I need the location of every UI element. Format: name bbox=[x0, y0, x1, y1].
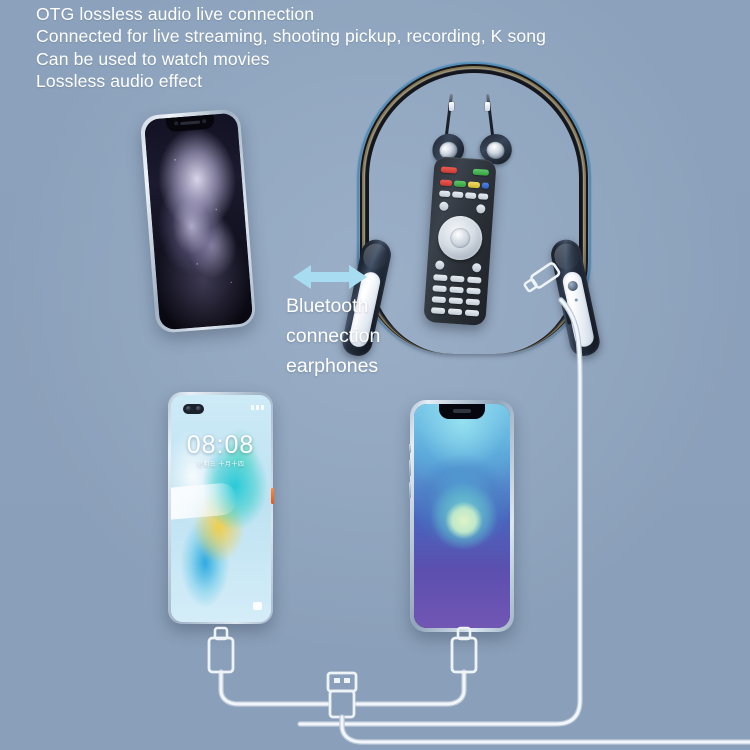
tv-remote-control bbox=[423, 156, 496, 326]
iphone-11-screen bbox=[143, 112, 252, 330]
remote-key-r5c2[interactable] bbox=[449, 286, 463, 293]
front-camera-icon bbox=[174, 121, 178, 125]
iphone-12-volume-down-button[interactable] bbox=[409, 482, 412, 498]
remote-color-key-yellow[interactable] bbox=[468, 181, 480, 188]
remote-key-r4c3[interactable] bbox=[467, 277, 481, 284]
huawei-lockscreen-date: 星期三 十月十四 bbox=[171, 459, 271, 468]
bluetooth-double-arrow-icon bbox=[293, 262, 367, 292]
remote-key-r2c3[interactable] bbox=[465, 192, 476, 199]
phone-iphone-12 bbox=[410, 400, 514, 632]
wifi-icon bbox=[256, 405, 259, 410]
remote-key-r4c1[interactable] bbox=[433, 274, 447, 281]
huawei-status-bar bbox=[251, 405, 264, 410]
remote-color-key-green[interactable] bbox=[454, 180, 466, 187]
remote-power-key[interactable] bbox=[441, 167, 457, 174]
remote-key-r2c1[interactable] bbox=[439, 190, 450, 197]
remote-key-r6c3[interactable] bbox=[466, 299, 480, 306]
phone-huawei-mate: 08:08 星期三 十月十四 bbox=[168, 392, 273, 624]
iphone-11-wallpaper bbox=[143, 112, 252, 330]
remote-key-r7c2[interactable] bbox=[448, 308, 462, 315]
remote-back-key[interactable] bbox=[435, 260, 445, 270]
remote-key-r4c2[interactable] bbox=[450, 275, 464, 282]
remote-dpad[interactable] bbox=[437, 215, 484, 262]
remote-key-r5c3[interactable] bbox=[466, 288, 480, 295]
earpiece-speaker-icon bbox=[180, 120, 200, 125]
remote-menu-key[interactable] bbox=[439, 201, 449, 211]
remote-key-r2c4[interactable] bbox=[478, 193, 488, 200]
remote-key-r5c1[interactable] bbox=[432, 285, 446, 292]
phone-iphone-11-pro bbox=[140, 108, 257, 333]
signal-icon bbox=[251, 405, 254, 410]
iphone-12-wallpaper bbox=[414, 404, 510, 628]
iphone-12-volume-up-button[interactable] bbox=[409, 460, 412, 476]
huawei-lockscreen-clock: 08:08 bbox=[171, 431, 271, 460]
remote-key-r7c3[interactable] bbox=[465, 310, 479, 317]
remote-home-key[interactable] bbox=[472, 263, 482, 273]
remote-ok-button[interactable] bbox=[450, 227, 471, 248]
remote-key-r6c1[interactable] bbox=[432, 296, 446, 303]
remote-source-key[interactable] bbox=[473, 169, 489, 176]
iphone-12-mute-switch[interactable] bbox=[409, 444, 412, 453]
status-led-indicator bbox=[574, 298, 578, 302]
iphone-12-screen bbox=[414, 404, 510, 628]
remote-color-key-blue[interactable] bbox=[482, 182, 489, 188]
huawei-punch-hole-camera bbox=[183, 404, 204, 414]
remote-exit-key[interactable] bbox=[476, 204, 486, 214]
earpiece-speaker-icon bbox=[453, 409, 471, 413]
remote-key-r2c2[interactable] bbox=[452, 191, 463, 198]
left-cable-ferrule bbox=[449, 102, 454, 111]
product-marketing-image: OTG lossless audio live connection Conne… bbox=[0, 0, 750, 750]
huawei-screen: 08:08 星期三 十月十四 bbox=[171, 395, 271, 622]
right-cable-ferrule bbox=[485, 102, 490, 111]
huawei-power-button[interactable] bbox=[271, 488, 274, 504]
remote-key-r6c2[interactable] bbox=[449, 297, 463, 304]
huawei-camera-shortcut-icon[interactable] bbox=[253, 602, 262, 610]
battery-icon bbox=[261, 405, 264, 410]
face-id-sensor-icon bbox=[202, 119, 206, 123]
remote-key-r7c1[interactable] bbox=[431, 307, 445, 314]
remote-color-key-red[interactable] bbox=[440, 179, 452, 186]
iphone-12-notch bbox=[439, 404, 485, 419]
